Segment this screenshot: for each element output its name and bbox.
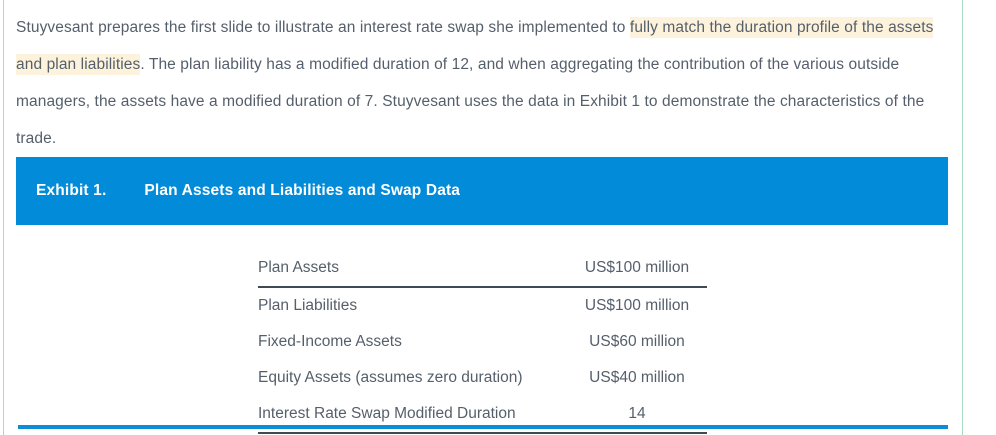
exhibit-table: Plan Assets US$100 million Plan Liabilit… — [258, 250, 707, 434]
document-page: Stuyvesant prepares the first slide to i… — [0, 0, 996, 435]
exhibit-label: Exhibit 1. — [36, 182, 106, 200]
exhibit-title: Plan Assets and Liabilities and Swap Dat… — [144, 182, 460, 200]
exhibit-table-wrapper: Plan Assets US$100 million Plan Liabilit… — [258, 250, 707, 434]
exhibit-header-bar: Exhibit 1. Plan Assets and Liabilities a… — [16, 157, 948, 225]
paragraph-segment-2: . The plan liability has a modified dura… — [16, 56, 924, 147]
paragraph-segment-1: Stuyvesant prepares the first slide to i… — [16, 19, 630, 36]
bottom-accent-rule — [18, 425, 948, 429]
intro-paragraph: Stuyvesant prepares the first slide to i… — [16, 0, 948, 157]
table-cell-label: Plan Assets — [258, 250, 567, 287]
table-cell-value: US$40 million — [567, 360, 707, 396]
exhibit-table-body: Plan Assets US$100 million Plan Liabilit… — [258, 250, 707, 433]
content-column: Stuyvesant prepares the first slide to i… — [16, 0, 948, 157]
table-cell-label: Fixed-Income Assets — [258, 324, 567, 360]
left-edge-rule — [3, 0, 4, 435]
right-edge-rule — [962, 0, 963, 435]
table-cell-label: Plan Liabilities — [258, 287, 567, 324]
table-cell-value: US$100 million — [567, 250, 707, 287]
table-row: Plan Liabilities US$100 million — [258, 287, 707, 324]
table-row: Equity Assets (assumes zero duration) US… — [258, 360, 707, 396]
table-row: Plan Assets US$100 million — [258, 250, 707, 287]
table-row: Fixed-Income Assets US$60 million — [258, 324, 707, 360]
exhibit-header-inner: Exhibit 1. Plan Assets and Liabilities a… — [36, 157, 460, 225]
table-cell-value: US$60 million — [567, 324, 707, 360]
table-cell-label: Equity Assets (assumes zero duration) — [258, 360, 567, 396]
table-cell-value: US$100 million — [567, 287, 707, 324]
